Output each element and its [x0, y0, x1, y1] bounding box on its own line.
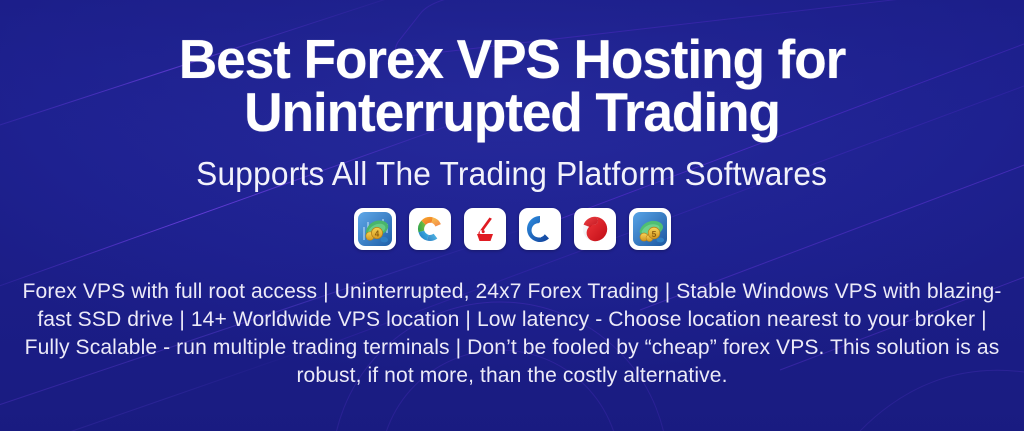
- hero-content: Best Forex VPS Hosting for Uninterrupted…: [0, 0, 1024, 431]
- ninjatrader-icon[interactable]: [464, 208, 506, 250]
- supported-platform-icons: 4: [354, 208, 671, 250]
- hero-subtitle: Supports All The Trading Platform Softwa…: [196, 157, 827, 190]
- hero-banner: Best Forex VPS Hosting for Uninterrupted…: [0, 0, 1024, 431]
- headline-line-2: Uninterrupted Trading: [46, 86, 977, 139]
- metatrader-4-icon[interactable]: 4: [354, 208, 396, 250]
- metatrader-5-icon[interactable]: 5: [629, 208, 671, 250]
- tradestation-icon[interactable]: [574, 208, 616, 250]
- sierra-chart-icon[interactable]: [519, 208, 561, 250]
- metatrader-5-badge: 5: [651, 228, 656, 238]
- metatrader-4-badge: 4: [374, 229, 379, 238]
- ctrader-icon[interactable]: [409, 208, 451, 250]
- page-title: Best Forex VPS Hosting for Uninterrupted…: [46, 33, 977, 140]
- hero-description: Forex VPS with full root access | Uninte…: [20, 277, 1004, 389]
